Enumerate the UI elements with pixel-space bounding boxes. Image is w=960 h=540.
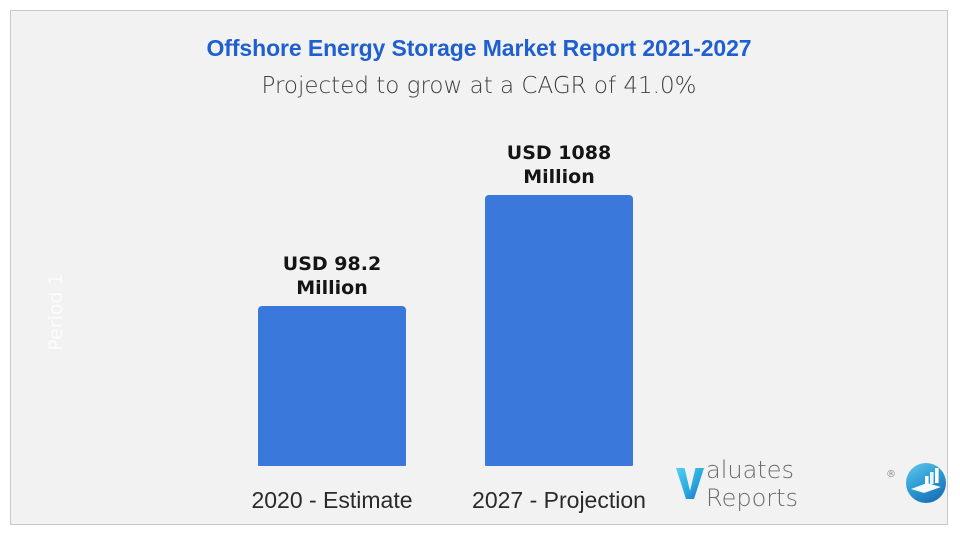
bar-category-label: 2020 - Estimate <box>203 487 461 514</box>
registered-mark: ® <box>886 469 896 480</box>
brand-logo: aluates Reports ® <box>675 460 947 506</box>
valuates-v-icon <box>675 466 705 500</box>
bar-data-label: USD 98.2 Million <box>218 252 446 300</box>
bar-chart-badge-icon <box>905 462 947 504</box>
chart-card: Offshore Energy Storage Market Report 20… <box>10 10 948 525</box>
plot-area: USD 98.2 Million 2020 - Estimate USD 108… <box>11 11 947 524</box>
brand-wordmark: aluates Reports <box>706 456 885 512</box>
bar-category-label: 2027 - Projection <box>430 487 688 514</box>
bar-rect[interactable] <box>258 306 406 466</box>
bar-data-label: USD 1088 Million <box>445 141 673 189</box>
bar-rect[interactable] <box>485 195 633 466</box>
